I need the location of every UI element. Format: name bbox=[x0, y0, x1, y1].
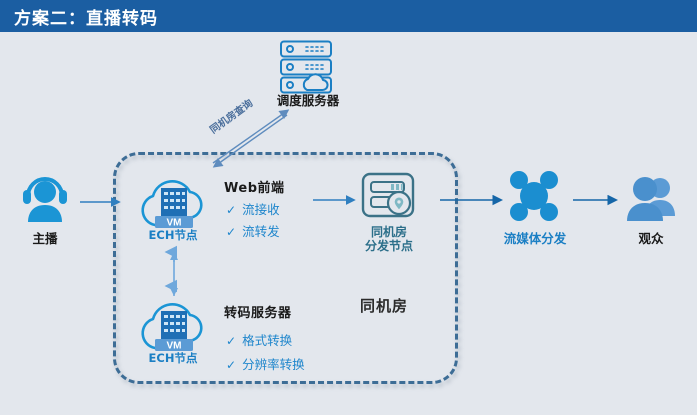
streaming-distribution-label: 流媒体分发 bbox=[492, 228, 578, 247]
distribution-to-streaming-arrow bbox=[440, 194, 508, 206]
scheduler-query-arrow bbox=[195, 105, 305, 175]
web-frontend-title: Web前端 bbox=[224, 177, 285, 196]
title-bar: 方案二：直播转码 bbox=[0, 0, 697, 32]
anchor-label: 主播 bbox=[8, 228, 82, 247]
anchor-to-room-arrow bbox=[80, 196, 126, 208]
transcode-server-item-0: ✓格式转换 bbox=[226, 330, 292, 349]
transcode-server-title: 转码服务器 bbox=[224, 302, 292, 321]
ech-nodes-link-arrow bbox=[166, 250, 182, 298]
distribution-node-label-line2: 分发节点 bbox=[352, 239, 426, 253]
check-icon: ✓ bbox=[226, 225, 236, 239]
ech-node-transcode-label: ECH节点 bbox=[128, 350, 218, 366]
viewer-icon bbox=[622, 172, 680, 229]
ech-node-web-label: ECH节点 bbox=[128, 227, 218, 243]
viewer-label: 观众 bbox=[615, 228, 687, 247]
page-title: 方案二：直播转码 bbox=[14, 4, 158, 29]
transcode-server-item-1: ✓分辨率转换 bbox=[226, 354, 305, 373]
diagram-canvas: 方案二：直播转码 同机房 调度服务 bbox=[0, 0, 697, 415]
streaming-to-viewer-arrow bbox=[573, 194, 623, 206]
web-frontend-item-0: ✓流接收 bbox=[226, 199, 280, 218]
check-icon: ✓ bbox=[226, 358, 236, 372]
same-datacenter-label: 同机房 bbox=[360, 295, 408, 316]
distribution-node-icon bbox=[361, 172, 417, 225]
check-icon: ✓ bbox=[226, 334, 236, 348]
anchor-icon bbox=[17, 172, 73, 229]
check-icon: ✓ bbox=[226, 203, 236, 217]
distribution-node-label-line1: 同机房 bbox=[352, 225, 426, 239]
streaming-distribution-icon bbox=[503, 167, 565, 230]
web-frontend-item-1: ✓流转发 bbox=[226, 221, 280, 240]
web-to-distribution-arrow bbox=[313, 194, 361, 206]
